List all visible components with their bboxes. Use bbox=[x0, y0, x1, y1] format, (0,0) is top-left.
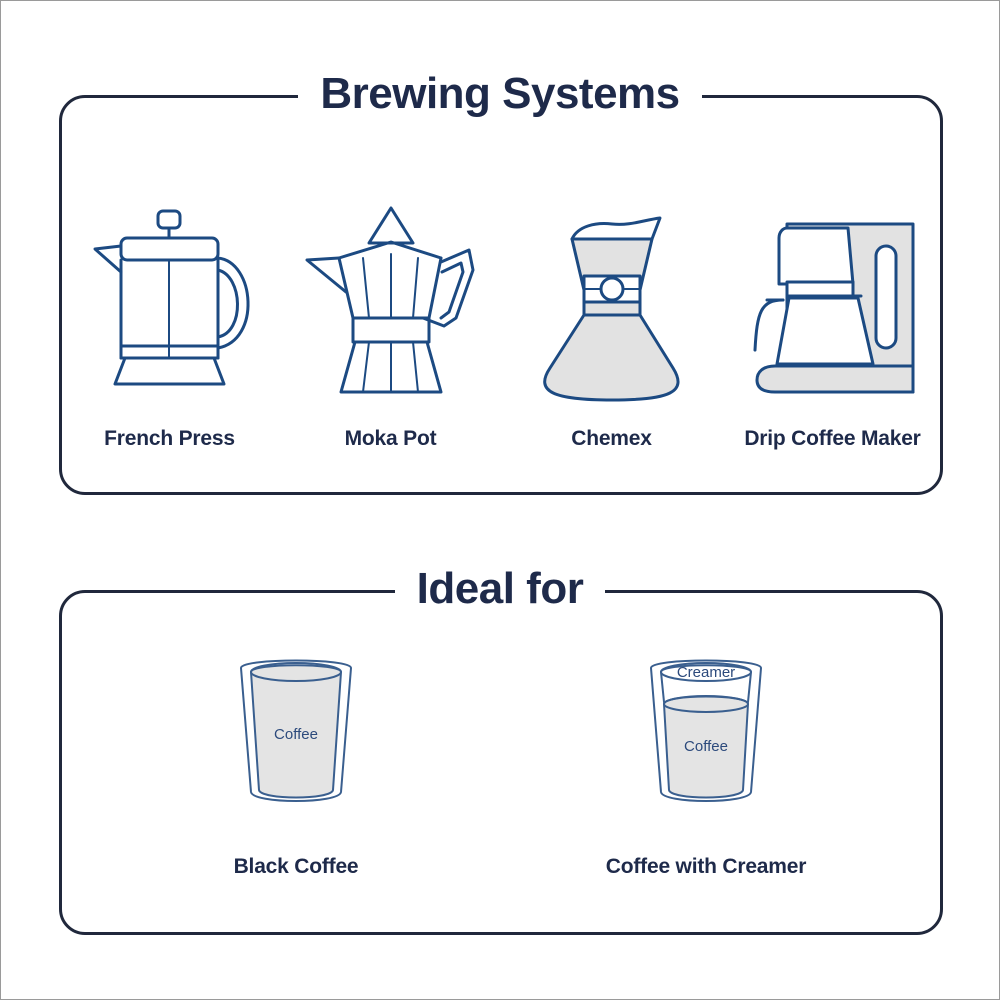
drip-coffee-maker-label: Drip Coffee Maker bbox=[744, 427, 920, 451]
brewing-item-french-press[interactable]: French Press bbox=[65, 200, 275, 451]
moka-pot-art bbox=[301, 200, 481, 405]
chemex-label: Chemex bbox=[571, 427, 652, 451]
black-coffee-label: Black Coffee bbox=[234, 855, 359, 879]
ideal-for-items: Coffee Black Coffee bbox=[59, 646, 943, 896]
coffee-with-creamer-cup-icon: Creamer Coffee bbox=[631, 646, 781, 816]
french-press-art bbox=[85, 200, 255, 405]
moka-pot-label: Moka Pot bbox=[345, 427, 437, 451]
brewing-item-moka-pot[interactable]: Moka Pot bbox=[286, 200, 496, 451]
coffee-with-creamer-art: Creamer Coffee bbox=[631, 646, 781, 821]
ideal-item-coffee-with-creamer[interactable]: Creamer Coffee Coffee with Creamer bbox=[581, 646, 831, 879]
chemex-icon bbox=[532, 200, 692, 405]
moka-pot-icon bbox=[301, 200, 481, 405]
black-coffee-fill-label: Coffee bbox=[274, 726, 318, 743]
french-press-icon bbox=[85, 200, 255, 405]
coffee-with-creamer-label: Coffee with Creamer bbox=[606, 855, 806, 879]
creamer-fill-label: Creamer bbox=[677, 664, 735, 681]
drip-coffee-maker-icon bbox=[743, 200, 923, 405]
coffee-fill-label: Coffee bbox=[684, 738, 728, 755]
ideal-item-black-coffee[interactable]: Coffee Black Coffee bbox=[171, 646, 421, 879]
infographic-page: Brewing Systems bbox=[0, 0, 1000, 1000]
drip-coffee-maker-art bbox=[743, 200, 923, 405]
chemex-art bbox=[532, 200, 692, 405]
black-coffee-cup-icon: Coffee bbox=[221, 646, 371, 816]
brewing-item-chemex[interactable]: Chemex bbox=[507, 200, 717, 451]
black-coffee-art: Coffee bbox=[221, 646, 371, 821]
brewing-item-drip-coffee-maker[interactable]: Drip Coffee Maker bbox=[728, 200, 938, 451]
french-press-label: French Press bbox=[104, 427, 235, 451]
brewing-systems-items: French Press bbox=[59, 161, 943, 451]
